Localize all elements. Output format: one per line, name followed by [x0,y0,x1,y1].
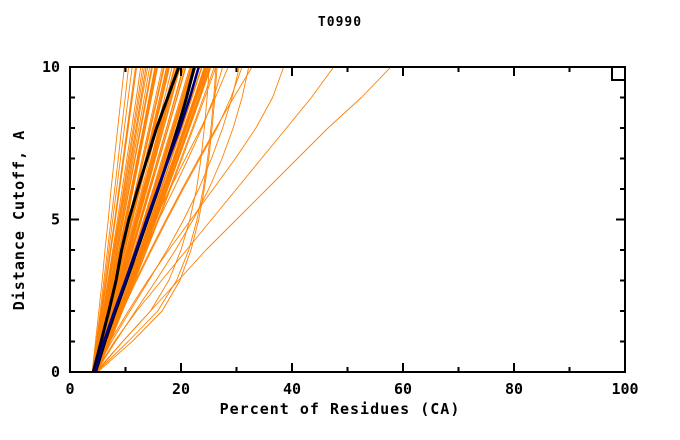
distance-cutoff-chart: T0990 0204060801000510 Percent of Residu… [0,0,680,440]
x-tick-label: 20 [172,380,190,398]
chart-background [0,0,680,440]
x-axis-title: Percent of Residues (CA) [220,400,461,418]
plot-root: T0990 0204060801000510 Percent of Residu… [0,0,680,440]
x-tick-label: 60 [394,380,412,398]
page-title: T0990 [318,15,362,30]
y-tick-label: 0 [51,363,60,381]
x-tick-label: 40 [283,380,301,398]
y-tick-label: 5 [51,211,60,229]
x-tick-label: 0 [65,380,74,398]
y-axis-title: Distance Cutoff, A [10,130,28,311]
x-tick-label: 100 [611,380,638,398]
x-tick-label: 80 [505,380,523,398]
y-tick-label: 10 [42,58,60,76]
